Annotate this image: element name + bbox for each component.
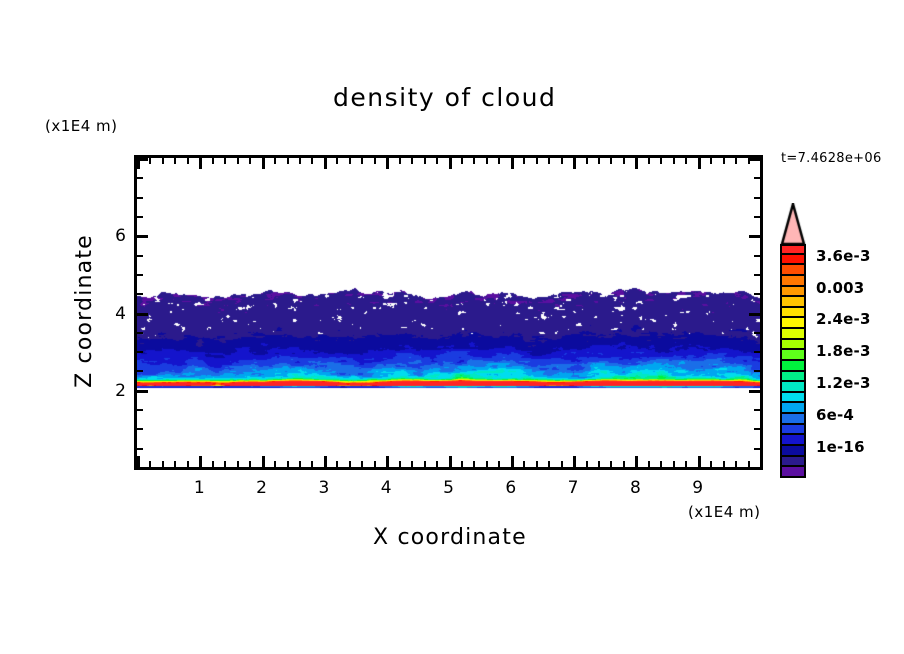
tick-mark: [212, 158, 214, 164]
tick-mark: [523, 158, 525, 164]
tick-mark: [237, 158, 239, 164]
tick-mark: [162, 461, 164, 467]
tick-mark: [137, 235, 148, 238]
tick-mark: [673, 158, 675, 164]
y-tick-label: 4: [100, 304, 126, 324]
tick-mark: [399, 461, 401, 467]
colorbar-tick-label: 1e-16: [816, 438, 865, 456]
density-field-image: [137, 158, 760, 467]
tick-mark: [523, 461, 525, 467]
colorbar-band: [780, 467, 806, 478]
tick-mark: [586, 461, 588, 467]
tick-mark: [710, 461, 712, 467]
colorbar-band: [780, 393, 806, 404]
tick-mark: [754, 351, 760, 353]
y-tick-label: 2: [100, 381, 126, 401]
tick-mark: [548, 158, 550, 164]
tick-mark: [623, 461, 625, 467]
colorbar-band: [780, 340, 806, 351]
tick-mark: [137, 409, 143, 411]
tick-mark: [749, 313, 760, 316]
tick-mark: [760, 158, 763, 169]
tick-mark: [498, 461, 500, 467]
tick-mark: [436, 461, 438, 467]
tick-mark: [262, 158, 265, 169]
tick-mark: [137, 456, 140, 467]
colorbar-band: [780, 361, 806, 372]
colorbar-tick-label: 3.6e-3: [816, 247, 871, 265]
x-tick-label: 8: [623, 478, 647, 498]
tick-mark: [473, 158, 475, 164]
tick-mark: [249, 461, 251, 467]
tick-mark: [212, 461, 214, 467]
tick-mark: [137, 428, 143, 430]
x-tick-label: 6: [499, 478, 523, 498]
x-tick-label: 3: [312, 478, 336, 498]
tick-mark: [573, 456, 576, 467]
tick-mark: [287, 158, 289, 164]
tick-mark: [336, 461, 338, 467]
tick-mark: [199, 456, 202, 467]
x-tick-label: 9: [686, 478, 710, 498]
tick-mark: [754, 332, 760, 334]
colorbar-band: [780, 425, 806, 436]
tick-mark: [673, 461, 675, 467]
colorbar-band: [780, 265, 806, 276]
colorbar-band: [780, 244, 806, 255]
tick-mark: [449, 456, 452, 467]
tick-mark: [349, 158, 351, 164]
tick-mark: [411, 158, 413, 164]
tick-mark: [274, 461, 276, 467]
tick-mark: [137, 332, 143, 334]
tick-mark: [237, 461, 239, 467]
tick-mark: [249, 158, 251, 164]
tick-mark: [754, 177, 760, 179]
tick-mark: [199, 158, 202, 169]
tick-mark: [299, 158, 301, 164]
tick-mark: [685, 158, 687, 164]
tick-mark: [436, 158, 438, 164]
tick-mark: [287, 461, 289, 467]
tick-mark: [336, 158, 338, 164]
tick-mark: [262, 456, 265, 467]
tick-mark: [635, 456, 638, 467]
colorbar-overflow-arrow-icon: [780, 203, 806, 245]
colorbar: [780, 244, 806, 478]
colorbar-band: [780, 255, 806, 266]
tick-mark: [610, 461, 612, 467]
tick-mark: [299, 461, 301, 467]
tick-mark: [461, 158, 463, 164]
tick-mark: [461, 461, 463, 467]
tick-mark: [162, 158, 164, 164]
tick-mark: [548, 461, 550, 467]
tick-mark: [749, 235, 760, 238]
tick-mark: [586, 158, 588, 164]
tick-mark: [573, 158, 576, 169]
tick-mark: [311, 158, 313, 164]
tick-mark: [311, 461, 313, 467]
colorbar-band: [780, 329, 806, 340]
x-tick-label: 2: [250, 478, 274, 498]
tick-mark: [274, 158, 276, 164]
colorbar-band: [780, 435, 806, 446]
tick-mark: [486, 461, 488, 467]
tick-mark: [424, 158, 426, 164]
tick-mark: [660, 158, 662, 164]
tick-mark: [386, 158, 389, 169]
x-tick-label: 7: [561, 478, 585, 498]
colorbar-band: [780, 287, 806, 298]
colorbar-tick-label: 1.2e-3: [816, 374, 871, 392]
tick-mark: [754, 448, 760, 450]
tick-mark: [598, 461, 600, 467]
tick-mark: [660, 461, 662, 467]
tick-mark: [399, 158, 401, 164]
x-axis-unit-label: (x1E4 m): [688, 505, 761, 520]
colorbar-band: [780, 446, 806, 457]
tick-mark: [324, 456, 327, 467]
tick-mark: [749, 390, 760, 393]
tick-mark: [187, 461, 189, 467]
colorbar-band: [780, 457, 806, 468]
tick-mark: [149, 158, 151, 164]
tick-mark: [536, 158, 538, 164]
tick-mark: [174, 158, 176, 164]
tick-mark: [386, 456, 389, 467]
tick-mark: [754, 274, 760, 276]
tick-mark: [137, 158, 148, 161]
tick-mark: [374, 158, 376, 164]
colorbar-band: [780, 350, 806, 361]
tick-mark: [137, 313, 148, 316]
tick-mark: [754, 197, 760, 199]
page-title: density of cloud: [333, 85, 556, 110]
tick-mark: [224, 158, 226, 164]
tick-mark: [137, 177, 143, 179]
colorbar-band: [780, 308, 806, 319]
tick-mark: [536, 461, 538, 467]
tick-mark: [754, 216, 760, 218]
tick-mark: [374, 461, 376, 467]
tick-mark: [754, 370, 760, 372]
tick-mark: [224, 461, 226, 467]
tick-mark: [561, 461, 563, 467]
tick-mark: [685, 461, 687, 467]
tick-mark: [137, 448, 143, 450]
tick-mark: [361, 461, 363, 467]
colorbar-tick-label: 2.4e-3: [816, 310, 871, 328]
tick-mark: [598, 158, 600, 164]
tick-mark: [137, 351, 143, 353]
tick-mark: [710, 158, 712, 164]
colorbar-band: [780, 276, 806, 287]
tick-mark: [648, 158, 650, 164]
tick-mark: [754, 428, 760, 430]
tick-mark: [749, 467, 760, 470]
tick-mark: [137, 255, 143, 257]
tick-mark: [754, 409, 760, 411]
tick-mark: [723, 158, 725, 164]
y-axis-unit-label: (x1E4 m): [45, 119, 118, 134]
x-tick-label: 5: [437, 478, 461, 498]
x-tick-label: 4: [374, 478, 398, 498]
tick-mark: [498, 158, 500, 164]
tick-mark: [749, 158, 760, 161]
tick-mark: [187, 158, 189, 164]
colorbar-band: [780, 403, 806, 414]
tick-mark: [137, 370, 143, 372]
tick-mark: [137, 197, 143, 199]
tick-mark: [486, 158, 488, 164]
tick-mark: [561, 158, 563, 164]
tick-mark: [324, 158, 327, 169]
tick-mark: [735, 158, 737, 164]
figure-canvas: density of cloud (x1E4 m) t=7.4628e+06 Z…: [0, 0, 904, 654]
tick-mark: [137, 274, 143, 276]
tick-mark: [149, 461, 151, 467]
tick-mark: [137, 216, 143, 218]
tick-mark: [137, 467, 148, 470]
tick-mark: [473, 461, 475, 467]
tick-mark: [174, 461, 176, 467]
colorbar-tick-label: 6e-4: [816, 406, 854, 424]
x-tick-label: 1: [187, 478, 211, 498]
tick-mark: [635, 158, 638, 169]
tick-mark: [723, 461, 725, 467]
tick-mark: [698, 158, 701, 169]
tick-mark: [411, 461, 413, 467]
colorbar-band: [780, 382, 806, 393]
y-tick-label: 6: [100, 226, 126, 246]
tick-mark: [424, 461, 426, 467]
tick-mark: [511, 456, 514, 467]
y-axis-title: Z coordinate: [74, 221, 96, 401]
x-axis-title: X coordinate: [373, 527, 527, 549]
colorbar-band: [780, 414, 806, 425]
tick-mark: [760, 456, 763, 467]
timestamp-annotation: t=7.4628e+06: [781, 152, 882, 165]
tick-mark: [361, 158, 363, 164]
tick-mark: [754, 255, 760, 257]
colorbar-tick-label: 1.8e-3: [816, 342, 871, 360]
tick-mark: [137, 390, 148, 393]
tick-mark: [623, 158, 625, 164]
tick-mark: [754, 293, 760, 295]
tick-mark: [511, 158, 514, 169]
colorbar-band: [780, 297, 806, 308]
colorbar-band: [780, 372, 806, 383]
tick-mark: [698, 456, 701, 467]
tick-mark: [648, 461, 650, 467]
tick-mark: [735, 461, 737, 467]
tick-mark: [349, 461, 351, 467]
tick-mark: [449, 158, 452, 169]
colorbar-band: [780, 318, 806, 329]
colorbar-tick-label: 0.003: [816, 279, 864, 297]
tick-mark: [137, 293, 143, 295]
tick-mark: [610, 158, 612, 164]
